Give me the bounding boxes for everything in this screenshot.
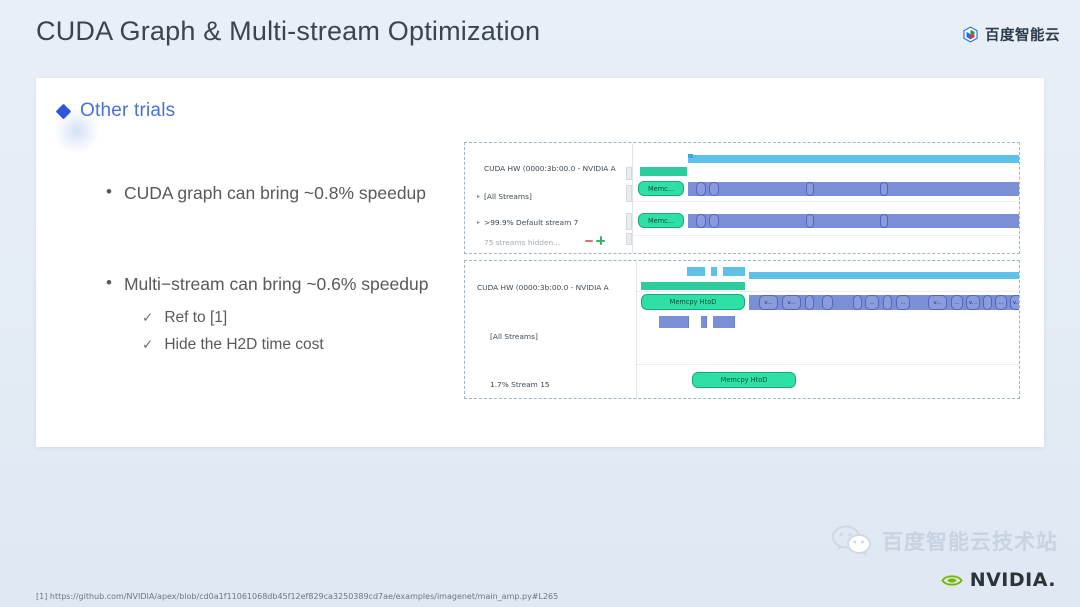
tree-row-label: CUDA HW (0000:3b:00.0 - NVIDIA A	[477, 283, 609, 292]
kernel-block[interactable]	[709, 214, 719, 228]
collapse-streams-icon[interactable]	[585, 240, 593, 242]
kernel-block[interactable]: ...	[951, 295, 963, 310]
reference-footnote: [1] https://github.com/NVIDIA/apex/blob/…	[36, 592, 558, 601]
bullet-item-2: • Multi−stream can bring ~0.6% speedup	[106, 274, 506, 295]
row-handle	[626, 185, 632, 202]
nvidia-eye-icon	[940, 571, 964, 590]
kernel-block[interactable]	[822, 295, 833, 310]
sub-bullet-text: Ref to [1]	[164, 309, 227, 327]
kernel-block[interactable]	[853, 295, 862, 310]
api-track-bar	[749, 272, 1020, 279]
row-divider	[633, 235, 1019, 236]
kernel-block[interactable]	[806, 214, 814, 228]
diamond-bullet-icon	[56, 103, 72, 119]
memcpy-pill[interactable]: Memc...	[638, 213, 684, 228]
tree-row-device[interactable]: CUDA HW (0000:3b:00.0 - NVIDIA A	[473, 164, 632, 173]
tree-row-streams-hidden: 75 streams hidden...	[484, 238, 632, 247]
expand-streams-icon[interactable]	[596, 236, 605, 245]
tree-row-label: 1.7% Stream 15	[490, 380, 550, 389]
bullet-text: Multi−stream can bring ~0.6% speedup	[124, 274, 428, 295]
kernel-block[interactable]: ...	[896, 295, 910, 310]
kernel-block[interactable]	[806, 182, 814, 196]
api-track-marker	[688, 154, 693, 158]
bullet-list: • CUDA graph can bring ~0.8% speedup • M…	[106, 183, 506, 363]
memcpy-summary-bar	[641, 282, 745, 290]
wechat-account-badge: 百度智能云技术站	[831, 525, 1058, 557]
api-track-bar	[688, 155, 1020, 163]
api-fragment	[711, 267, 717, 276]
wechat-icon	[831, 525, 873, 557]
nvidia-logo: NVIDIA.	[940, 569, 1056, 591]
tree-row-label: CUDA HW (0000:3b:00.0 - NVIDIA A	[484, 164, 616, 173]
check-icon: ✓	[142, 337, 153, 353]
kernel-fragment	[713, 316, 735, 328]
sub-bullet-list: ✓ Ref to [1] ✓ Hide the H2D time cost	[106, 309, 506, 354]
kernel-block[interactable]	[983, 295, 992, 310]
panel-2-tree-column: CUDA HW (0000:3b:00.0 - NVIDIA A [All St…	[465, 261, 637, 398]
panel-1-timeline-tracks[interactable]: Memc... Memc...	[633, 143, 1019, 253]
kernel-block[interactable]: ...	[865, 295, 879, 310]
tree-row-device[interactable]: CUDA HW (0000:3b:00.0 - NVIDIA A	[477, 283, 636, 292]
content-card: Other trials • CUDA graph can bring ~0.8…	[36, 78, 1044, 447]
sub-bullet-text: Hide the H2D time cost	[164, 336, 323, 354]
tree-row-label: >99.9% Default stream 7	[484, 218, 578, 227]
bullet-item-1: • CUDA graph can bring ~0.8% speedup	[106, 183, 506, 204]
kernel-block[interactable]: v...	[782, 295, 801, 310]
sub-bullet-item-1: ✓ Ref to [1]	[142, 309, 506, 327]
caret-icon: ▸	[473, 219, 484, 226]
tree-row-stream-15[interactable]: 1.7% Stream 15	[490, 380, 636, 389]
row-divider	[637, 291, 1019, 292]
row-handle	[626, 233, 632, 245]
tree-row-label: 75 streams hidden...	[484, 238, 560, 247]
section-heading: Other trials	[58, 100, 175, 122]
check-icon: ✓	[142, 310, 153, 326]
profiler-screenshot-panel-1: CUDA HW (0000:3b:00.0 - NVIDIA A ▸ [All …	[464, 142, 1020, 254]
memcpy-pill[interactable]: Memc...	[638, 181, 684, 196]
kernel-block[interactable]	[696, 182, 706, 196]
stream-visibility-controls[interactable]	[585, 236, 605, 245]
bullet-marker: •	[106, 274, 112, 293]
kernel-block[interactable]	[880, 214, 888, 228]
row-divider	[633, 201, 1019, 202]
kernel-block[interactable]: v...	[966, 295, 980, 310]
kernel-fragment	[659, 316, 689, 328]
kernel-block[interactable]: v...	[759, 295, 778, 310]
kernel-block[interactable]	[709, 182, 719, 196]
sub-bullet-item-2: ✓ Hide the H2D time cost	[142, 336, 506, 354]
nvidia-wordmark: NVIDIA.	[970, 569, 1056, 591]
bullet-text: CUDA graph can bring ~0.8% speedup	[124, 183, 426, 204]
kernel-track-row-1	[688, 182, 1020, 196]
kernel-block[interactable]	[696, 214, 706, 228]
profiler-screenshot-panel-2: CUDA HW (0000:3b:00.0 - NVIDIA A [All St…	[464, 260, 1020, 399]
slide-root: CUDA Graph & Multi-stream Optimization 百…	[0, 0, 1080, 607]
tree-row-all-streams[interactable]: ▸ [All Streams]	[473, 192, 632, 201]
wechat-account-name: 百度智能云技术站	[882, 526, 1058, 556]
bullet-marker: •	[106, 183, 112, 202]
memcpy-pill[interactable]: Memcpy HtoD	[641, 294, 745, 310]
caret-icon: ▸	[473, 193, 484, 200]
row-divider	[637, 364, 1019, 365]
panel-2-timeline-tracks[interactable]: Memcpy HtoD v... v... ... ... v... ... v…	[637, 261, 1019, 398]
kernel-block[interactable]	[805, 295, 814, 310]
memcpy-pill[interactable]: Memcpy HtoD	[692, 372, 796, 388]
row-handle	[626, 213, 632, 230]
baidu-cloud-logo-icon	[962, 26, 979, 43]
row-handle	[626, 167, 632, 180]
kernel-block[interactable]: ...	[995, 295, 1007, 310]
tree-row-label: [All Streams]	[484, 192, 532, 201]
kernel-track-row-2	[688, 214, 1020, 228]
api-fragment	[723, 267, 745, 276]
brand-name: 百度智能云	[985, 24, 1060, 45]
section-heading-label: Other trials	[80, 100, 175, 122]
tree-row-label: [All Streams]	[490, 332, 538, 341]
kernel-fragment	[701, 316, 707, 328]
tree-row-all-streams[interactable]: [All Streams]	[490, 332, 636, 341]
kernel-block[interactable]	[883, 295, 892, 310]
memcpy-summary-bar	[640, 167, 687, 176]
baidu-cloud-brand: 百度智能云	[962, 24, 1060, 45]
kernel-block[interactable]: v...	[928, 295, 947, 310]
page-title: CUDA Graph & Multi-stream Optimization	[36, 16, 540, 47]
kernel-block[interactable]: v...	[1010, 295, 1020, 310]
panel-1-tree-column: CUDA HW (0000:3b:00.0 - NVIDIA A ▸ [All …	[465, 143, 633, 253]
tree-row-default-stream[interactable]: ▸ >99.9% Default stream 7	[473, 218, 632, 227]
api-fragment	[687, 267, 705, 276]
kernel-block[interactable]	[880, 182, 888, 196]
